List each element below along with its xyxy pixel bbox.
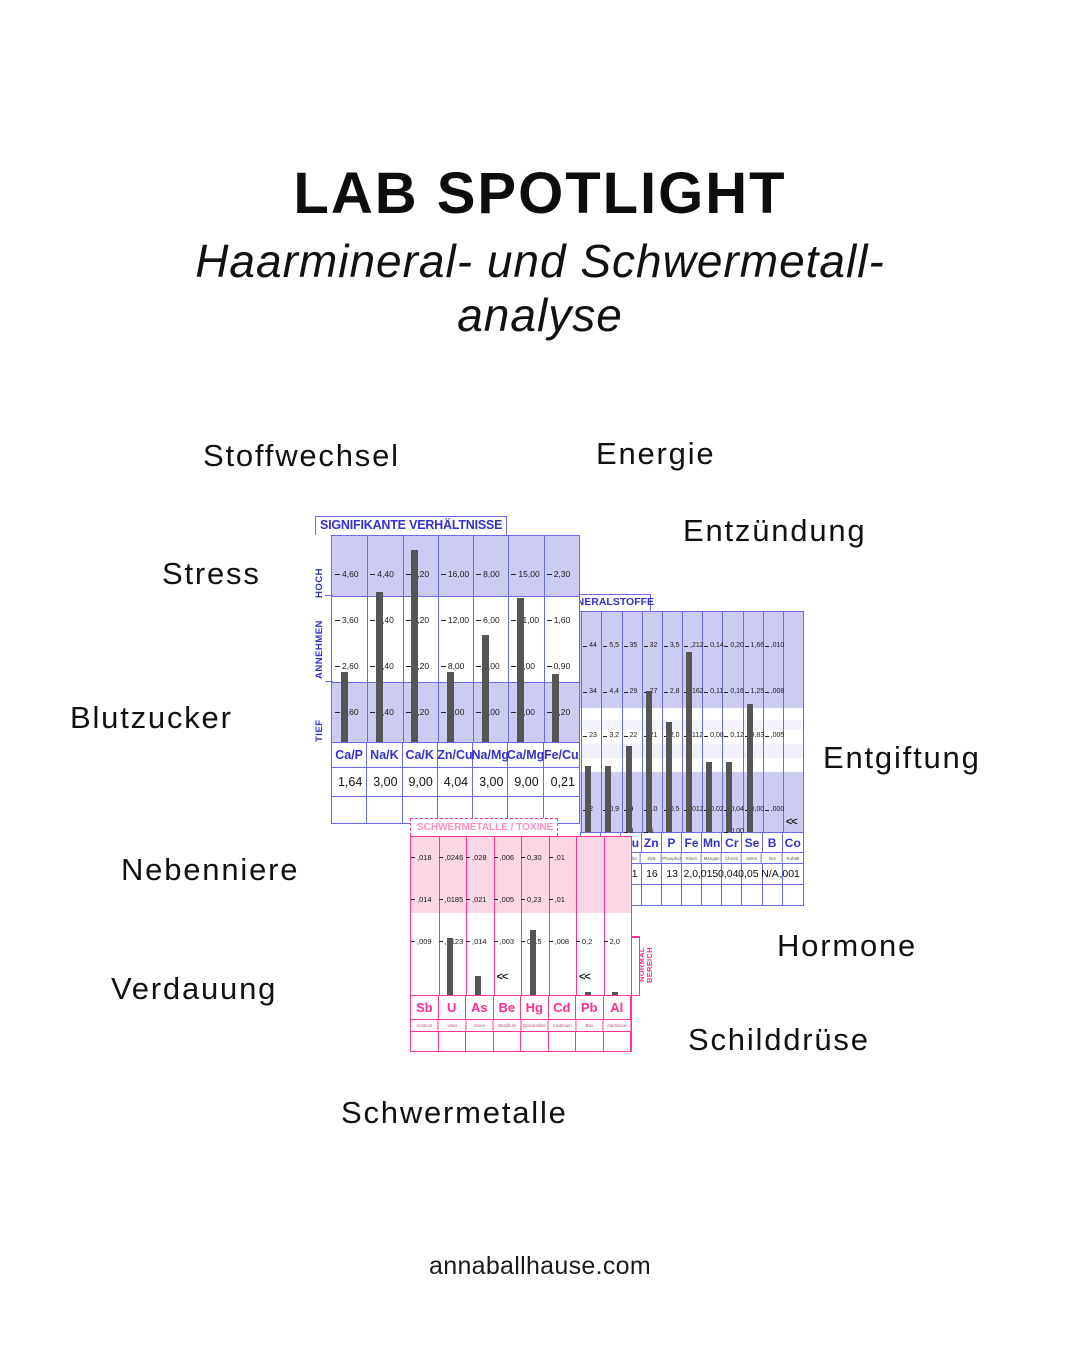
minerals-tick-Cr-0: 0,20	[730, 642, 744, 649]
metals-cell-1	[439, 1032, 467, 1051]
metals-cell-5: Cd	[549, 996, 577, 1019]
metals-col-divider-7	[604, 837, 605, 995]
ratios-tick-Fe/Cu-2: 0,90	[554, 661, 571, 671]
ratios-col-divider-1	[367, 536, 368, 742]
ratios-cell-2: 9,00	[403, 768, 438, 796]
ratios-col-divider-3	[438, 536, 439, 742]
metals-cell-3: Be	[494, 996, 522, 1019]
ratios-tick-Zn/Cu-1: 12,00	[448, 615, 469, 625]
ratios-tick-Zn/Cu-2: 8,00	[448, 661, 465, 671]
minerals-cell-6	[682, 885, 702, 905]
metals-tick-Be-1: ,005	[500, 895, 515, 904]
ratios-cell-4: Na/Mg	[473, 743, 508, 767]
minerals-col-divider-4	[642, 612, 643, 832]
ratios-cell-1: 3,00	[367, 768, 402, 796]
minerals-bar-K	[605, 766, 611, 832]
metals-tick-U-1: ,0185	[445, 895, 464, 904]
normal-range-bracket-bottom	[632, 936, 640, 996]
ratios-cell-3: 4,04	[438, 768, 473, 796]
minerals-cell-5: P	[662, 833, 682, 852]
footer-url: annaballhause.com	[0, 1252, 1080, 1281]
minerals-bar-Zn	[646, 691, 652, 832]
minerals-tick-P-0: 3,5	[670, 642, 680, 649]
minerals-col-divider-5	[662, 612, 663, 832]
ratios-tick-Na/Mg-1: 6,00	[483, 615, 500, 625]
metals-cell-3: Beryllium	[494, 1020, 520, 1031]
minerals-cell-4	[642, 885, 662, 905]
minerals-tick-Cu-2: 22	[630, 732, 638, 739]
minerals-cell-6: Eisen	[682, 853, 701, 863]
metals-cell-6: Blei	[577, 1020, 603, 1031]
minerals-cell-11: Kobalt	[783, 853, 802, 863]
minerals-tick-Na-1: 34	[589, 688, 597, 695]
ratios-value-row: 1,643,009,004,043,009,000,21	[331, 768, 580, 797]
metals-bar-Pb	[585, 992, 591, 995]
minerals-cell-11	[783, 885, 803, 905]
metals-cell-2: Arsen	[467, 1020, 493, 1031]
minerals-bar-Cu	[626, 746, 632, 832]
ratios-col-divider-6	[544, 536, 545, 742]
minerals-tick-Se-1: 1,25	[751, 688, 765, 695]
ratios-tick-Na/Mg-0: 8,00	[483, 569, 500, 579]
minerals-tick-Mn-0: 0,14	[710, 642, 724, 649]
ratios-bar-Ca/Mg	[517, 598, 524, 742]
ratios-tick-Zn/Cu-0: 16,00	[448, 569, 469, 579]
minerals-below-range-marker-Co: <<	[786, 816, 797, 828]
ratios-bar-Fe/Cu	[552, 674, 559, 742]
metals-col-divider-4	[521, 837, 522, 995]
minerals-bar-Fe	[686, 652, 692, 832]
zone-divider-1	[332, 682, 579, 683]
lab-report-collage: SIGNIFIKANTE VERHÄLTNISSE 4,603,602,601,…	[0, 0, 1080, 1350]
minerals-cell-11: ,001	[783, 864, 803, 884]
heavy-metals-plot-area: ,018,014,009,0246,0185,0123,028,021,014,…	[410, 836, 632, 996]
minerals-cell-8: Cr	[722, 833, 742, 852]
metals-tick-As-2: ,014	[472, 937, 487, 946]
metals-col-divider-1	[439, 837, 440, 995]
heavy-metals-title-capsule: SCHWERMETALLE / TOXINE	[410, 818, 558, 836]
zone-band-hoch	[332, 536, 579, 596]
minerals-tick-K-1: 4,4	[609, 688, 619, 695]
minerals-tick-Mn-2: 0,08	[710, 732, 724, 739]
minerals-tick-B-0: ,010	[771, 642, 785, 649]
ratios-tick-Ca/P-1: 3,60	[342, 615, 359, 625]
minerals-cell-10: Bor	[763, 853, 782, 863]
ratios-zone-label-ANNEHMEN: ANNEHMEN	[314, 601, 325, 679]
ratios-cell-3: Zn/Cu	[438, 743, 473, 767]
ratios-zone-label-TIEF: TIEF	[314, 684, 325, 742]
metals-tick-Cd-0: ,01	[555, 853, 565, 862]
minerals-col-divider-3	[622, 612, 623, 832]
metals-tick-Sb-0: ,018	[417, 853, 432, 862]
metals-cell-4: Hg	[521, 996, 549, 1019]
metals-col-divider-5	[549, 837, 550, 995]
minerals-col-divider-2	[601, 612, 602, 832]
metals-tick-U-0: ,0246	[445, 853, 464, 862]
metals-cell-4: Quecksilber	[522, 1020, 548, 1031]
metals-cell-7: Aluminium	[604, 1020, 630, 1031]
minerals-cell-8: Chrom	[723, 853, 742, 863]
minerals-tick-Na-2: 23	[589, 732, 597, 739]
ratios-col-divider-4	[473, 536, 474, 742]
metals-tick-Cd-2: ,008	[555, 937, 570, 946]
heavy-metals-blank-row	[410, 1032, 632, 1052]
ratios-cell-0: Ca/P	[332, 743, 367, 767]
metals-tick-Pb-0: 0,2	[582, 937, 592, 946]
minerals-cell-5: Phosphor	[662, 853, 681, 863]
metals-cell-1: U	[439, 996, 467, 1019]
heavy-metals-name-row: AntimonUranArsenBerylliumQuecksilberCadm…	[410, 1020, 632, 1032]
ratios-cell-0: 1,64	[332, 768, 367, 796]
metals-cell-4	[521, 1032, 549, 1051]
metals-tick-Sb-1: ,014	[417, 895, 432, 904]
metals-cell-2	[466, 1032, 494, 1051]
metals-bar-Al	[612, 992, 618, 995]
minerals-col-divider-1	[581, 612, 582, 832]
heavy-metals-symbol-row: SbUAsBeHgCdPbAl	[410, 996, 632, 1020]
ratios-cell-5: 9,00	[508, 768, 543, 796]
minerals-cell-9: Se	[742, 833, 762, 852]
ratios-bar-Na/Mg	[482, 635, 489, 742]
metals-cell-7: Al	[604, 996, 632, 1019]
ratios-report-card: SIGNIFIKANTE VERHÄLTNISSE 4,603,602,601,…	[312, 516, 580, 836]
minerals-cell-7: Mn	[702, 833, 722, 852]
minerals-cell-9: Selen	[743, 853, 762, 863]
minerals-cell-10	[763, 885, 783, 905]
metals-cell-6: Pb	[576, 996, 604, 1019]
minerals-tick-Mn-1: 0,11	[710, 688, 723, 695]
minerals-bar-Cr	[726, 762, 732, 832]
ratios-cell-1: Na/K	[367, 743, 402, 767]
ratios-cell-6: 0,21	[544, 768, 579, 796]
minerals-tick-P-1: 2,8	[670, 688, 680, 695]
metals-cell-0: Antimon	[412, 1020, 438, 1031]
ratios-zone-tickline-0	[325, 595, 333, 596]
metals-bar-As	[475, 976, 481, 995]
metals-cell-0	[411, 1032, 439, 1051]
metals-cell-5	[549, 1032, 577, 1051]
minerals-tick-Cu-0: 35	[630, 642, 638, 649]
metals-bar-U	[447, 938, 453, 995]
metals-cell-3	[494, 1032, 522, 1051]
minerals-tick-Cr-2: 0,12	[730, 732, 744, 739]
minerals-bar-Na	[585, 766, 591, 832]
minerals-cell-9	[742, 885, 762, 905]
ratios-cell-1	[367, 797, 402, 823]
minerals-tick-B-3: ,000	[771, 806, 785, 813]
minerals-tick-Cr-1: 0,16	[730, 688, 744, 695]
minerals-cell-10: B	[763, 833, 783, 852]
ratios-title: SIGNIFIKANTE VERHÄLTNISSE	[320, 518, 502, 532]
ratios-tick-Ca/Mg-0: 15,00	[518, 569, 539, 579]
zone-divider-0	[332, 596, 579, 597]
minerals-tick-Na-0: 44	[589, 642, 597, 649]
ratios-bar-Ca/P	[341, 672, 348, 742]
minerals-tick-Cu-1: 29	[630, 688, 638, 695]
metals-tick-Cd-1: ,01	[555, 895, 565, 904]
ratios-zone-label-HOCH: HOCH	[314, 538, 325, 598]
minerals-tick-B-2: ,005	[771, 732, 785, 739]
ratios-tick-Fe/Cu-1: 1,60	[554, 615, 571, 625]
lab-spotlight-poster: LAB SPOTLIGHT Haarmineral- und Schwermet…	[0, 0, 1080, 1350]
minerals-cell-7: Mangan	[702, 853, 721, 863]
minerals-bar-Se	[747, 704, 753, 832]
metals-cell-6	[576, 1032, 604, 1051]
minerals-tick-Se-0: 1,66	[751, 642, 765, 649]
minerals-cell-4: Zn	[642, 833, 662, 852]
ratios-plot-area: 4,603,602,601,604,403,402,401,408,206,20…	[331, 535, 580, 743]
minerals-bar-P	[666, 722, 672, 832]
metals-col-divider-6	[576, 837, 577, 995]
ratios-bar-Zn/Cu	[447, 672, 454, 742]
metals-below-range-marker-Be: <<	[497, 971, 508, 983]
minerals-cell-4: Zink	[642, 853, 661, 863]
minerals-cell-11: Co	[783, 833, 803, 852]
minerals-cell-4: 16	[642, 864, 662, 884]
metals-cell-2: As	[466, 996, 494, 1019]
metals-col-divider-3	[494, 837, 495, 995]
ratios-bar-Ca/K	[411, 550, 418, 742]
metals-tick-As-0: ,028	[472, 853, 487, 862]
ratios-col-divider-2	[403, 536, 404, 742]
ratios-tick-Ca/P-2: 2,60	[342, 661, 359, 671]
ratios-tick-Ca/P-0: 4,60	[342, 569, 359, 579]
metals-cell-0: Sb	[411, 996, 439, 1019]
metals-cell-1: Uran	[439, 1020, 465, 1031]
minerals-tick-Zn-0: 32	[650, 642, 658, 649]
heavy-metals-title: SCHWERMETALLE / TOXINE	[417, 822, 553, 833]
metals-tick-As-1: ,021	[472, 895, 487, 904]
ratios-cell-2: Ca/K	[403, 743, 438, 767]
metals-tick-Sb-2: ,009	[417, 937, 432, 946]
ratios-cell-6: Fe/Cu	[544, 743, 579, 767]
ratios-symbol-row: Ca/PNa/KCa/KZn/CuNa/MgCa/MgFe/Cu	[331, 743, 580, 768]
minerals-tick-K-0: 5,5	[609, 642, 619, 649]
minerals-plot-area: 44342325,54,43,20,9352922933227211063,52…	[560, 611, 804, 833]
metals-cell-7	[604, 1032, 632, 1051]
ratios-tick-Na/K-0: 4,40	[377, 569, 394, 579]
minerals-cell-6: Fe	[682, 833, 702, 852]
metals-cell-5: Cadmium	[549, 1020, 575, 1031]
metals-col-divider-2	[466, 837, 467, 995]
normal-range-label: NORMAL BEREICH	[638, 940, 654, 990]
metals-tick-Hg-0: 0,30	[527, 853, 542, 862]
ratios-col-divider-5	[508, 536, 509, 742]
minerals-cell-5	[662, 885, 682, 905]
ratios-tick-Fe/Cu-0: 2,30	[554, 569, 571, 579]
minerals-cell-7	[702, 885, 722, 905]
minerals-bar-Mn	[706, 762, 712, 832]
minerals-cell-8	[722, 885, 742, 905]
metals-tick-Be-2: ,003	[500, 937, 515, 946]
metals-tick-Be-0: ,006	[500, 853, 515, 862]
ratios-cell-4: 3,00	[473, 768, 508, 796]
metals-bar-Hg	[530, 930, 536, 995]
minerals-tick-K-2: 3,2	[609, 732, 619, 739]
minerals-cell-9: 0,05	[742, 864, 762, 884]
ratios-bar-Na/K	[376, 592, 383, 742]
metals-tick-Al-0: 2,0	[610, 937, 620, 946]
ratios-zone-tickline-1	[325, 681, 333, 682]
heavy-metals-report-card: SCHWERMETALLE / TOXINE ,018,014,009,0246…	[410, 836, 632, 1052]
metals-below-range-marker-Pb: <<	[579, 971, 590, 983]
ratios-cell-5: Ca/Mg	[508, 743, 543, 767]
minerals-tick-B-1: ,008	[771, 688, 785, 695]
minerals-tick-Fe-0: ,212	[690, 642, 704, 649]
metals-tick-Hg-1: 0,23	[527, 895, 542, 904]
minerals-col-divider-6	[682, 612, 683, 832]
ratios-cell-0	[332, 797, 367, 823]
minerals-cell-5: 13	[662, 864, 682, 884]
